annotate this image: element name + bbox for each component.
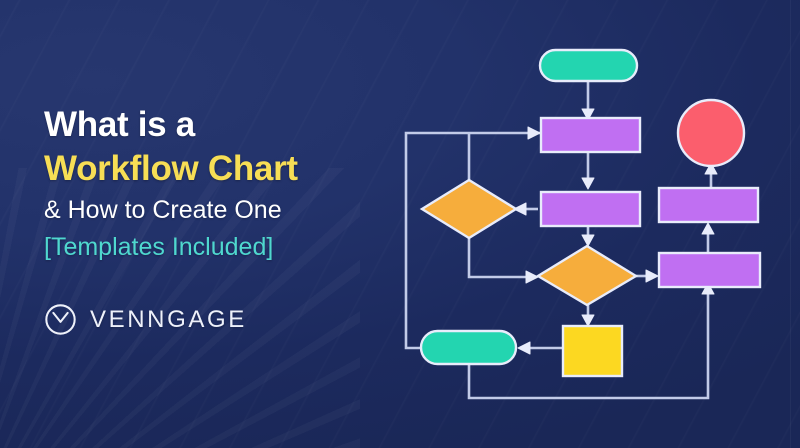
banner-canvas: What is a Workflow Chart & How to Create… (0, 0, 800, 448)
brand-name: VENNGAGE (90, 308, 247, 332)
node-process-1[interactable] (541, 118, 640, 152)
arrowhead-data-store-top (582, 315, 594, 326)
arrowhead-end-terminal-right (518, 342, 530, 354)
node-data-store[interactable] (563, 326, 622, 376)
arrowhead-process-3-bottom (702, 223, 714, 234)
arrowhead-decision-2-left (526, 271, 538, 283)
arrowhead-process-2-top (582, 178, 594, 189)
node-process-3[interactable] (659, 188, 758, 222)
arrowhead-process-4-left (646, 270, 658, 282)
node-end-circle[interactable] (678, 100, 744, 166)
headline-line-4: [Templates Included] (44, 229, 374, 265)
node-process-2[interactable] (541, 192, 640, 226)
headline-line-1: What is a (44, 104, 374, 146)
edge-end-terminal-to-process-1 (406, 133, 588, 348)
venn-circle-icon (44, 303, 77, 336)
node-start[interactable] (540, 50, 637, 81)
edge-decision-1-to-decision-2 (469, 238, 528, 277)
headline-line-2: Workflow Chart (44, 146, 374, 191)
headline-line-3: & How to Create One (44, 191, 374, 229)
arrowhead-process-1-left (528, 127, 540, 139)
brand-logo[interactable]: VENNGAGE (44, 303, 247, 336)
node-decision-1[interactable] (422, 180, 516, 238)
arrowhead-decision-2-top (582, 235, 594, 246)
node-decision-2[interactable] (538, 246, 636, 305)
node-process-4[interactable] (659, 253, 760, 287)
node-end-terminal[interactable] (421, 331, 516, 364)
headline-block: What is a Workflow Chart & How to Create… (44, 104, 374, 265)
